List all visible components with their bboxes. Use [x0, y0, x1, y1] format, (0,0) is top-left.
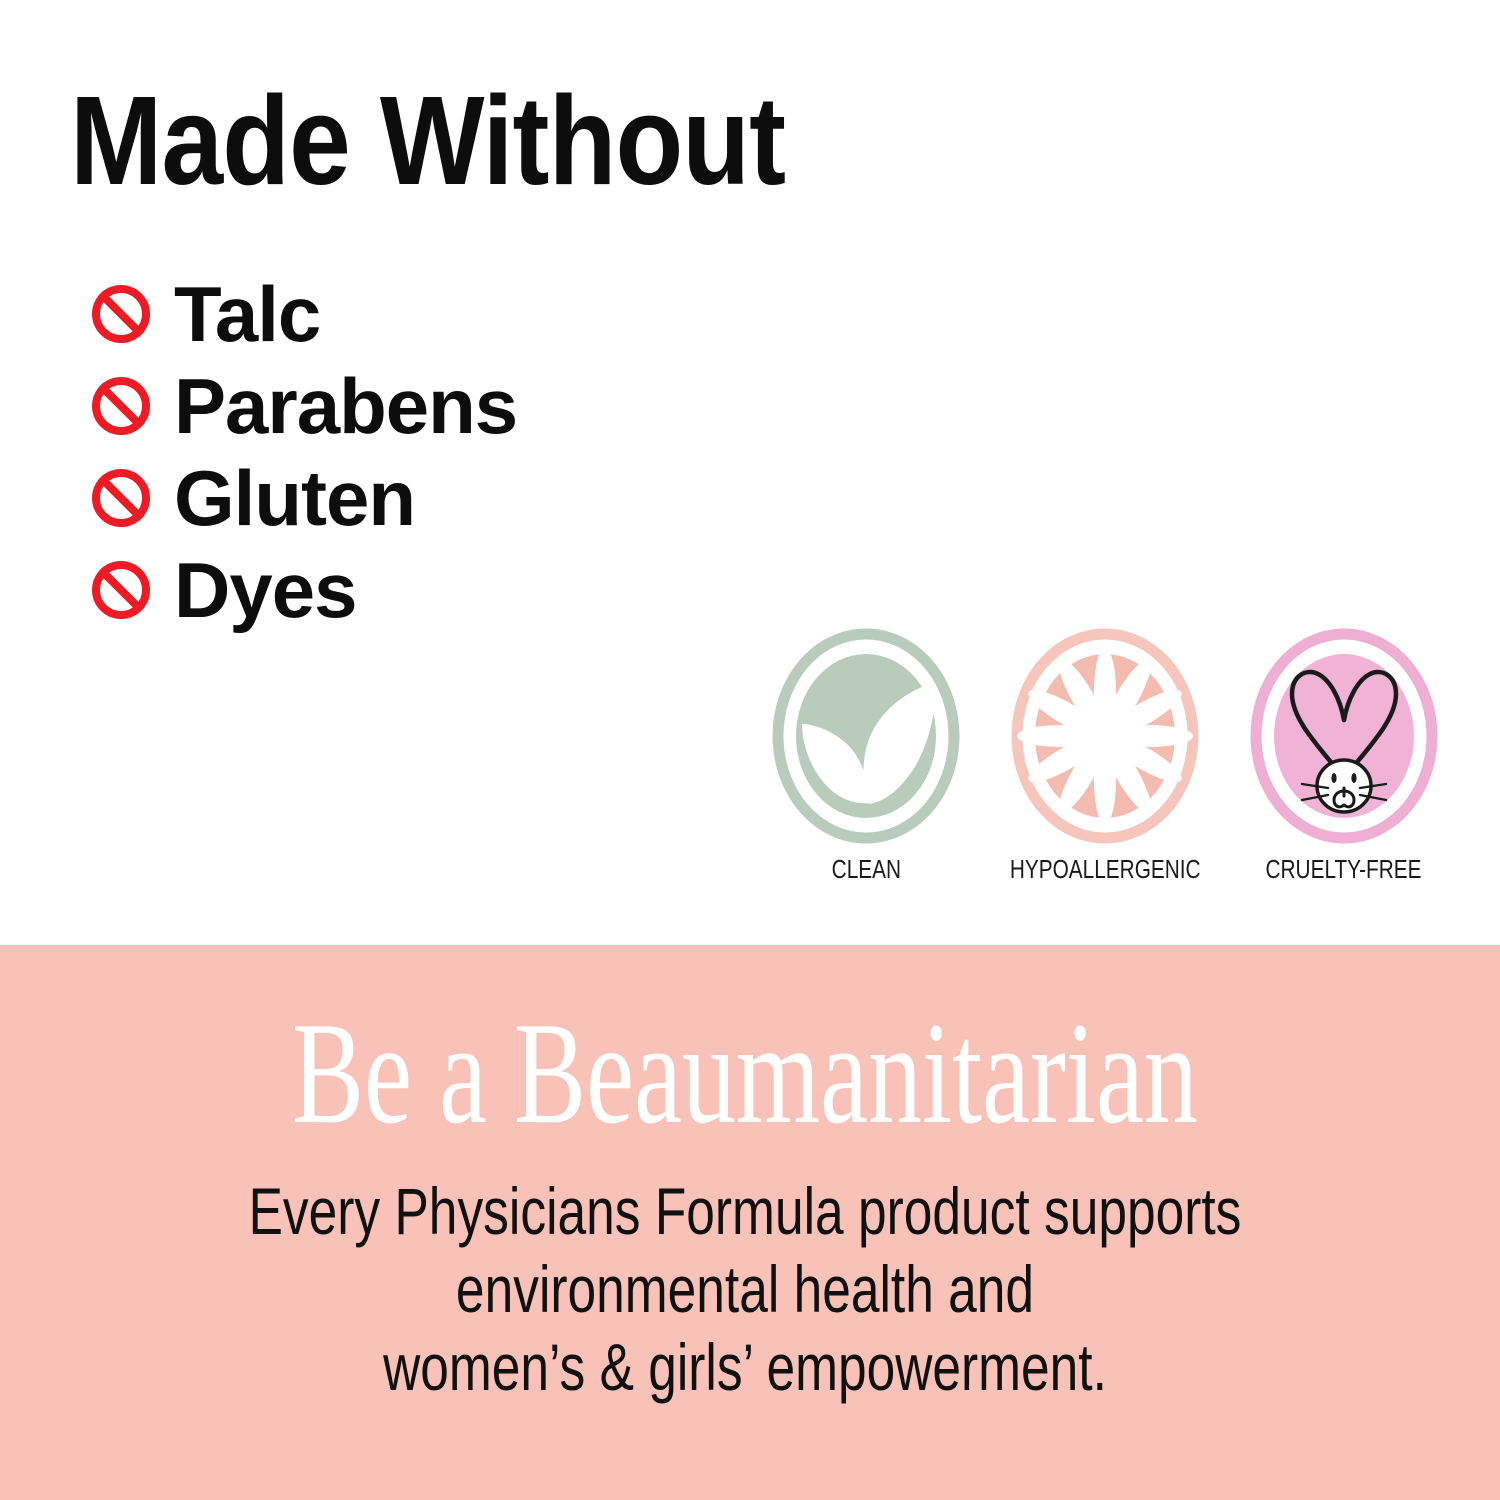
made-without-section: Made Without Talc Parabens Gluten Dyes [0, 0, 1500, 945]
list-item: Parabens [92, 360, 517, 452]
list-item: Gluten [92, 452, 517, 544]
prohibited-icon [92, 469, 150, 527]
badge-clean: CLEAN [770, 628, 962, 885]
badge-hypoallergenic: HYPOALLERGENIC [1009, 628, 1201, 885]
product-claims-panel: Made Without Talc Parabens Gluten Dyes [0, 0, 1500, 1500]
cta-body: Every Physicians Formula product support… [164, 1172, 1326, 1406]
flower-icon [1011, 628, 1199, 844]
certification-badges: CLEAN [770, 628, 1440, 913]
page-title: Made Without [70, 78, 785, 204]
badge-label: HYPOALLERGENIC [1010, 854, 1201, 885]
leaves-icon [772, 628, 960, 844]
cta-body-line: environmental health and [164, 1250, 1326, 1328]
prohibited-icon [92, 561, 150, 619]
badge-label: CRUELTY-FREE [1266, 854, 1422, 885]
bunny-heart-icon [1250, 628, 1438, 844]
cta-title: Be a Beaumanitarian [194, 1000, 1297, 1146]
exclusion-label: Parabens [174, 367, 517, 445]
cta-body-line: Every Physicians Formula product support… [164, 1172, 1326, 1250]
badge-label: CLEAN [831, 854, 900, 885]
exclusion-label: Gluten [174, 459, 415, 537]
prohibited-icon [92, 285, 150, 343]
list-item: Talc [92, 268, 517, 360]
prohibited-icon [92, 377, 150, 435]
exclusion-list: Talc Parabens Gluten Dyes [92, 268, 517, 636]
badge-cruelty-free: CRUELTY-FREE [1248, 628, 1440, 885]
cta-body-line: women’s & girls’ empowerment. [164, 1328, 1326, 1406]
list-item: Dyes [92, 544, 517, 636]
exclusion-label: Dyes [174, 551, 356, 629]
exclusion-label: Talc [174, 275, 320, 353]
